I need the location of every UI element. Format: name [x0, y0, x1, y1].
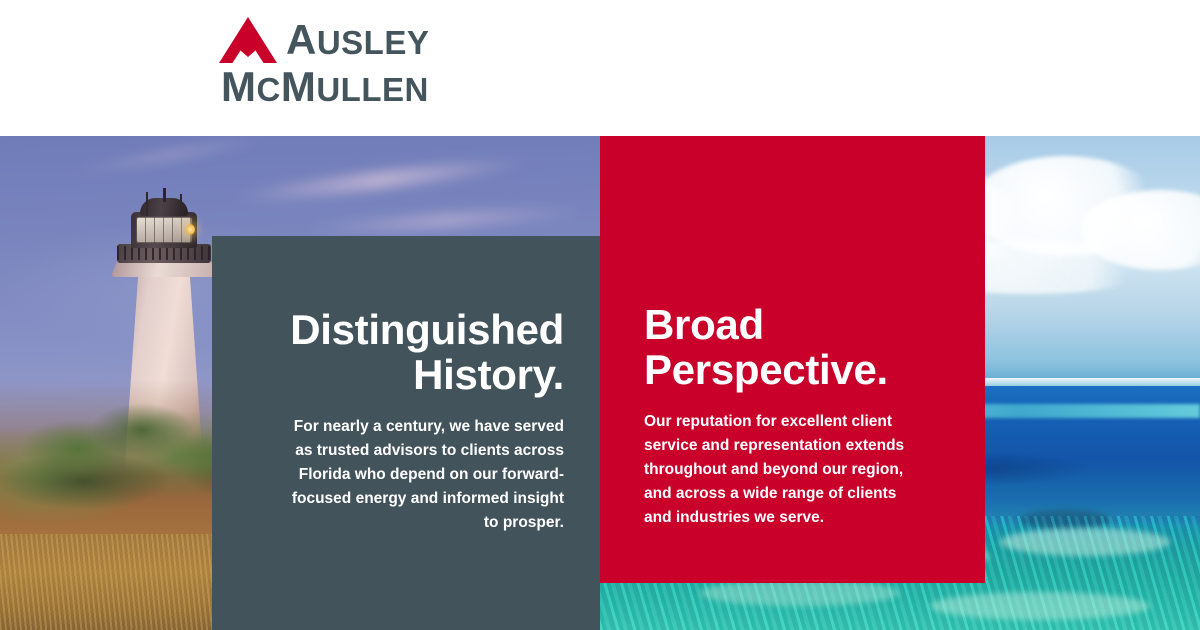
logo-ausley-cap: A	[286, 16, 317, 63]
perspective-body-line: Our reputation for excellent client	[644, 413, 892, 430]
lighthouse-antenna	[180, 194, 182, 216]
logo-line-2: MCMULLEN	[221, 66, 429, 108]
reef-patch	[930, 592, 1150, 620]
logo-mcmullen-cap-1: M	[221, 63, 257, 110]
history-body: For nearly a century, we have served as …	[248, 415, 564, 535]
reef-patch	[1000, 528, 1170, 556]
logo-mcmullen-rest-2: ULLEN	[316, 71, 429, 108]
lighthouse-lantern-glass	[136, 217, 192, 243]
history-body-line: to prosper.	[484, 514, 564, 531]
logo-mcmullen-cap-2: M	[281, 63, 317, 110]
perspective-heading: Broad Perspective.	[644, 303, 939, 393]
perspective-body: Our reputation for excellent client serv…	[644, 410, 939, 530]
perspective-body-line: and across a wide range of clients	[644, 485, 896, 502]
mountain-mark-icon	[219, 17, 277, 63]
history-body-line: as trusted advisors to clients across	[295, 442, 564, 459]
history-body-line: For nearly a century, we have served	[294, 418, 564, 435]
perspective-body-line: throughout and beyond our region,	[644, 461, 903, 478]
history-body-line: Florida who depend on our forward-	[299, 466, 564, 483]
lighthouse-railing	[117, 246, 211, 260]
perspective-body-line: service and representation extends	[644, 437, 904, 454]
perspective-heading-line-2: Perspective.	[644, 346, 888, 393]
lighthouse-antenna	[146, 192, 148, 216]
reef-patch	[700, 580, 900, 606]
history-body-line: focused energy and informed insight	[292, 490, 564, 507]
perspective-body-line: and industries we serve.	[644, 509, 824, 526]
lighthouse-lamp-glow	[186, 224, 195, 235]
history-heading-line-1: Distinguished	[290, 306, 564, 353]
panel-history-content: Distinguished History. For nearly a cent…	[248, 308, 564, 535]
logo-wordmark-ausley: AUSLEY	[286, 19, 429, 61]
panel-perspective-content: Broad Perspective. Our reputation for ex…	[644, 303, 939, 530]
logo-ausley-rest: USLEY	[317, 24, 430, 61]
panel-distinguished-history: Distinguished History. For nearly a cent…	[212, 236, 600, 630]
logo-mcmullen-rest-1: C	[257, 71, 281, 108]
site-header: AUSLEY MCMULLEN	[0, 0, 1200, 136]
history-heading-line-2: History.	[413, 351, 564, 398]
perspective-heading-line-1: Broad	[644, 301, 764, 348]
history-heading: Distinguished History.	[248, 308, 564, 398]
page-root: AUSLEY MCMULLEN Broad Perspective. Our r…	[0, 0, 1200, 630]
logo-wordmark-mcmullen: MCMULLEN	[221, 88, 429, 105]
logo-line-1: AUSLEY	[219, 16, 429, 64]
panel-broad-perspective: Broad Perspective. Our reputation for ex…	[600, 136, 985, 583]
logo[interactable]: AUSLEY MCMULLEN	[219, 16, 429, 108]
lighthouse-spire	[163, 188, 166, 202]
